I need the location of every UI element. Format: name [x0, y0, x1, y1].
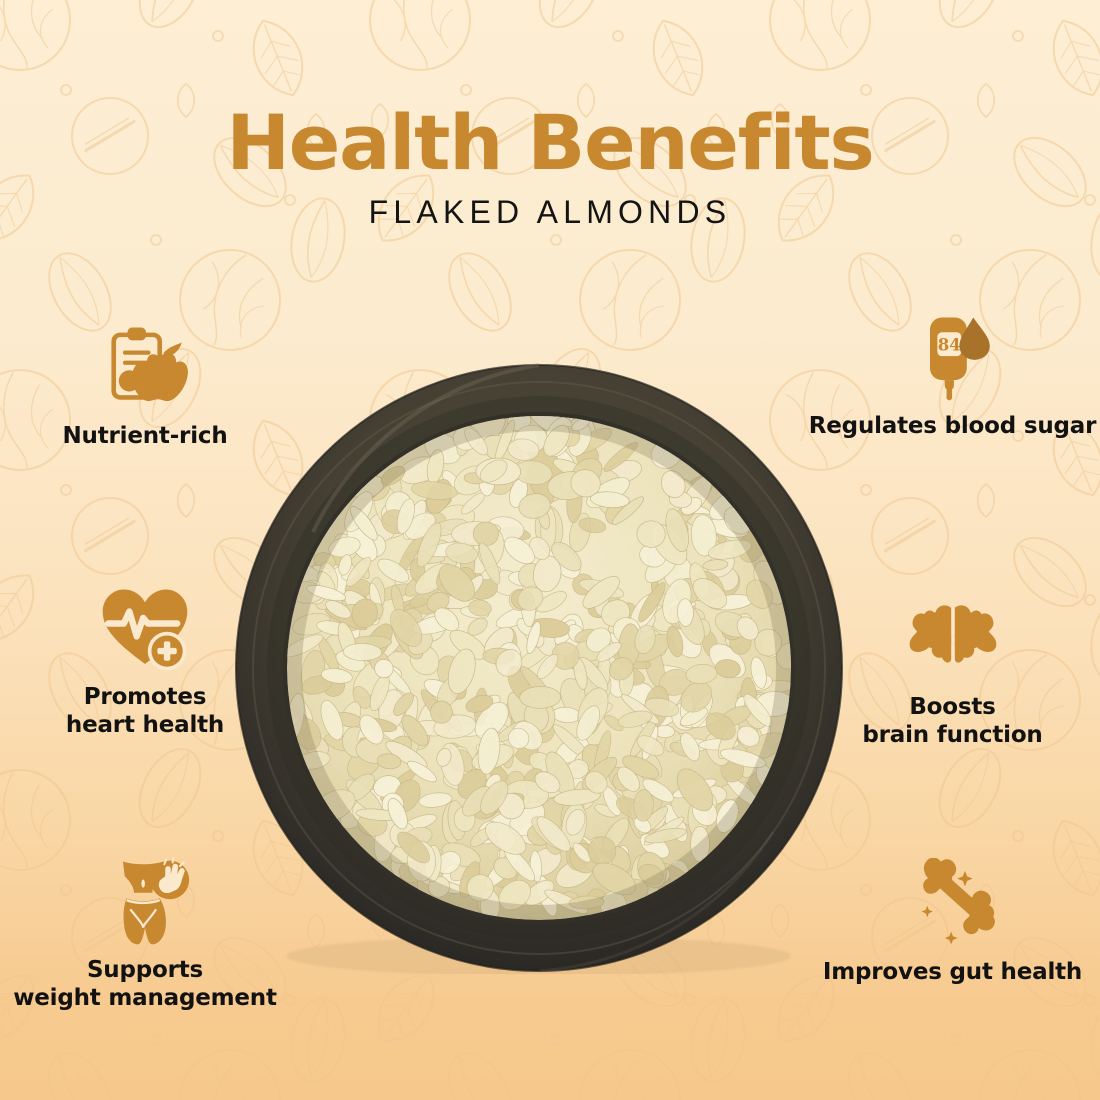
benefit-label: Regulates blood sugar: [809, 412, 1096, 440]
bone-sparkle-icon: [907, 858, 999, 950]
page-title: Health Benefits: [0, 104, 1100, 182]
benefit-label: Boosts brain function: [862, 693, 1042, 749]
benefit-label: Nutrient-rich: [63, 422, 228, 450]
slim-waist-icon: [99, 856, 191, 948]
benefit-regulates-blood-sugar: 84 Regulates blood sugar: [805, 312, 1100, 440]
header: Health Benefits FLAKED ALMONDS: [0, 104, 1100, 230]
bowl-of-flaked-almonds-image: [233, 362, 845, 974]
glucometer-icon: 84: [907, 312, 999, 404]
benefit-improves-gut-health: Improves gut health: [805, 858, 1100, 986]
benefit-label: Supports weight management: [13, 956, 277, 1012]
benefit-label: Promotes heart health: [66, 683, 224, 739]
benefit-promotes-heart-health: Promotes heart health: [0, 583, 290, 739]
benefit-label: Improves gut health: [823, 958, 1082, 986]
benefit-boosts-brain-function: Boosts brain function: [805, 593, 1100, 749]
clipboard-apple-icon: [99, 322, 191, 414]
glucometer-reading: 84: [937, 335, 960, 355]
benefit-nutrient-rich: Nutrient-rich: [0, 322, 290, 450]
page-subtitle: FLAKED ALMONDS: [0, 194, 1100, 230]
benefit-supports-weight-management: Supports weight management: [0, 856, 290, 1012]
brain-muscle-icon: [907, 593, 999, 685]
heart-pulse-plus-icon: [99, 583, 191, 675]
